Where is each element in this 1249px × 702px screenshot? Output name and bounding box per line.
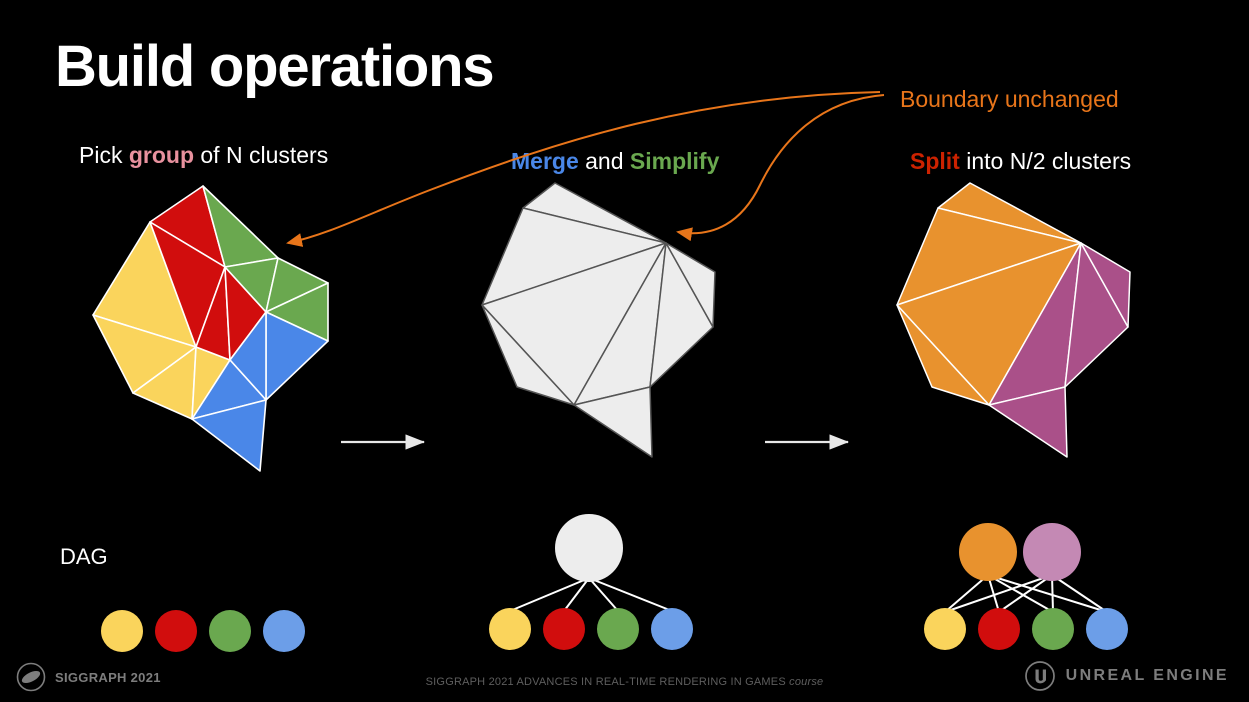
footer-course-word: course [789,676,823,688]
mesh-merged-simplified [470,175,740,475]
dag-node-green [597,608,639,650]
heading-left-post: of N clusters [194,142,328,168]
heading-mid-keyword-merge: Merge [511,148,579,174]
unreal-label: UNREAL ENGINE [1066,667,1229,685]
dag-node-merged-parent [555,514,623,582]
dag-edge-merge-blue [589,578,672,611]
dag-node-blue [1086,608,1128,650]
dag-node-yellow [101,610,143,652]
dag-node-red [543,608,585,650]
mesh-clustered-colored [70,175,350,475]
heading-left-pre: Pick [79,142,129,168]
dag-node-pink [1023,523,1081,581]
dag-node-orange [959,523,1017,581]
dag-node-green [209,610,251,652]
dag-label: DAG [60,544,108,570]
dag-node-red [155,610,197,652]
dag-node-red [978,608,1020,650]
boundary-unchanged-annotation: Boundary unchanged [900,86,1119,113]
dag-after-split [910,512,1150,662]
panel-heading-right: Split into N/2 clusters [910,148,1131,175]
dag-node-yellow [924,608,966,650]
dag-node-green [1032,608,1074,650]
heading-left-keyword: group [129,142,194,168]
mesh-split-two-clusters [880,175,1160,475]
dag-edge-split-orange-yellow [945,575,988,612]
dag-edge-split-pink-blue [1052,575,1107,612]
dag-node-blue [263,610,305,652]
dag-initial-clusters [100,600,320,670]
heading-mid-keyword-simplify: Simplify [630,148,719,174]
dag-after-merge [475,512,715,662]
unreal-engine-logo-icon [1024,660,1056,692]
heading-right-post: into N/2 clusters [960,148,1131,174]
panel-heading-mid: Merge and Simplify [511,148,719,175]
footer-course-text: SIGGRAPH 2021 ADVANCES IN REAL-TIME REND… [426,676,790,688]
panel-heading-left: Pick group of N clusters [79,142,328,169]
footer-unreal: UNREAL ENGINE [1024,660,1229,692]
slide-root: Build operations Pick group of N cluster… [0,0,1249,702]
page-title: Build operations [55,38,493,96]
heading-right-keyword: Split [910,148,960,174]
heading-mid-conjunction: and [579,148,630,174]
dag-node-blue [651,608,693,650]
dag-node-yellow [489,608,531,650]
